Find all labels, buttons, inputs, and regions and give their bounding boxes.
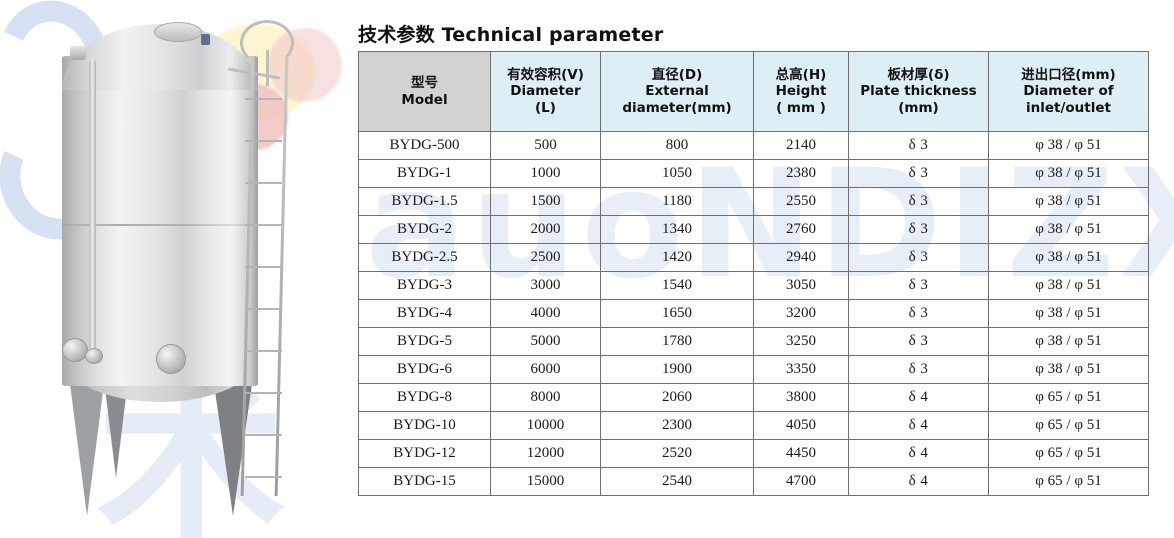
- cell-model: BYDG-5: [359, 328, 491, 356]
- cell-height: 4050: [754, 412, 849, 440]
- cell-diameter: 2060: [601, 384, 754, 412]
- table-row: BYDG-4400016503200δ 3φ 38 / φ 51: [359, 300, 1149, 328]
- ladder-rail-right: [275, 56, 289, 496]
- column-header-cn: 总高(H): [756, 67, 846, 83]
- cell-model: BYDG-6: [359, 356, 491, 384]
- column-header-diameter: 直径(D) External diameter(mm): [601, 52, 754, 132]
- column-header-en: External: [603, 83, 751, 99]
- cell-diameter: 800: [601, 132, 754, 160]
- column-header-en: Plate thickness: [851, 83, 986, 99]
- table-header-row: 型号 Model 有效容积(V) Diameter (L) 直径(D) Exte…: [359, 52, 1149, 132]
- cell-inlet-outlet: φ 65 / φ 51: [989, 412, 1149, 440]
- product-image: 术: [0, 0, 355, 538]
- cell-model: BYDG-1.5: [359, 188, 491, 216]
- cell-diameter: 2520: [601, 440, 754, 468]
- cell-volume: 12000: [491, 440, 601, 468]
- cell-inlet-outlet: φ 38 / φ 51: [989, 300, 1149, 328]
- cell-diameter: 2300: [601, 412, 754, 440]
- cell-inlet-outlet: φ 38 / φ 51: [989, 328, 1149, 356]
- ladder-rung: [245, 476, 282, 478]
- cell-height: 2380: [754, 160, 849, 188]
- cell-plate-thickness: δ 3: [849, 356, 989, 384]
- table-row: BYDG-3300015403050δ 3φ 38 / φ 51: [359, 272, 1149, 300]
- cell-plate-thickness: δ 3: [849, 272, 989, 300]
- cell-inlet-outlet: φ 38 / φ 51: [989, 356, 1149, 384]
- cell-volume: 15000: [491, 468, 601, 496]
- ladder-rung: [245, 140, 282, 142]
- cell-height: 2760: [754, 216, 849, 244]
- cell-plate-thickness: δ 3: [849, 216, 989, 244]
- column-header-cn: 直径(D): [603, 67, 751, 83]
- cell-model: BYDG-15: [359, 468, 491, 496]
- table-row: BYDG-1.5150011802550δ 3φ 38 / φ 51: [359, 188, 1149, 216]
- cell-plate-thickness: δ 3: [849, 132, 989, 160]
- column-header-unit: ( mm ): [756, 100, 846, 116]
- cell-volume: 3000: [491, 272, 601, 300]
- cell-diameter: 1420: [601, 244, 754, 272]
- cell-inlet-outlet: φ 65 / φ 51: [989, 440, 1149, 468]
- ladder-rung: [245, 266, 282, 268]
- cell-volume: 2000: [491, 216, 601, 244]
- table-row: BYDG-5500017803250δ 3φ 38 / φ 51: [359, 328, 1149, 356]
- table-row: BYDG-101000023004050δ 4φ 65 / φ 51: [359, 412, 1149, 440]
- cell-inlet-outlet: φ 38 / φ 51: [989, 272, 1149, 300]
- table-row: BYDG-151500025404700δ 4φ 65 / φ 51: [359, 468, 1149, 496]
- column-header-cn: 板材厚(δ): [851, 67, 986, 83]
- cell-volume: 1000: [491, 160, 601, 188]
- ladder-rung: [245, 98, 282, 100]
- column-header-unit: diameter(mm): [603, 100, 751, 116]
- cell-model: BYDG-8: [359, 384, 491, 412]
- cell-inlet-outlet: φ 38 / φ 51: [989, 160, 1149, 188]
- cell-volume: 1500: [491, 188, 601, 216]
- table-row: BYDG-2200013402760δ 3φ 38 / φ 51: [359, 216, 1149, 244]
- technical-parameter-table: 型号 Model 有效容积(V) Diameter (L) 直径(D) Exte…: [358, 51, 1149, 496]
- cell-model: BYDG-1: [359, 160, 491, 188]
- cell-diameter: 1650: [601, 300, 754, 328]
- ladder-rung: [245, 224, 282, 226]
- valve-nozzle-icon: [85, 348, 103, 364]
- ladder-rung: [245, 392, 282, 394]
- cell-model: BYDG-12: [359, 440, 491, 468]
- ladder-rail-left: [241, 56, 255, 496]
- table-row: BYDG-6600019003350δ 3φ 38 / φ 51: [359, 356, 1149, 384]
- cell-model: BYDG-2.5: [359, 244, 491, 272]
- cell-height: 2550: [754, 188, 849, 216]
- cell-model: BYDG-500: [359, 132, 491, 160]
- cell-volume: 6000: [491, 356, 601, 384]
- cell-plate-thickness: δ 3: [849, 328, 989, 356]
- cell-diameter: 1540: [601, 272, 754, 300]
- table-row: BYDG-121200025204450δ 4φ 65 / φ 51: [359, 440, 1149, 468]
- page-root: 术: [0, 0, 1174, 538]
- cell-diameter: 1340: [601, 216, 754, 244]
- cell-inlet-outlet: φ 65 / φ 51: [989, 384, 1149, 412]
- cell-height: 3350: [754, 356, 849, 384]
- storage-tank-illustration: [46, 18, 306, 528]
- cell-inlet-outlet: φ 38 / φ 51: [989, 216, 1149, 244]
- ladder-rung: [245, 350, 282, 352]
- cell-model: BYDG-4: [359, 300, 491, 328]
- cell-volume: 2500: [491, 244, 601, 272]
- ladder-hoop-arm: [266, 50, 269, 86]
- cell-plate-thickness: δ 4: [849, 412, 989, 440]
- cell-height: 3200: [754, 300, 849, 328]
- table-body: BYDG-5005008002140δ 3φ 38 / φ 51BYDG-110…: [359, 132, 1149, 496]
- sight-glass-tube: [89, 60, 96, 350]
- cell-inlet-outlet: φ 38 / φ 51: [989, 188, 1149, 216]
- column-header-volume: 有效容积(V) Diameter (L): [491, 52, 601, 132]
- column-header-unit: (L): [493, 100, 598, 116]
- cell-inlet-outlet: φ 65 / φ 51: [989, 468, 1149, 496]
- cell-plate-thickness: δ 4: [849, 440, 989, 468]
- cell-plate-thickness: δ 3: [849, 188, 989, 216]
- column-header-cn: 有效容积(V): [493, 67, 598, 83]
- outlet-nozzle-icon: [62, 338, 88, 362]
- cell-volume: 5000: [491, 328, 601, 356]
- table-row: BYDG-5005008002140δ 3φ 38 / φ 51: [359, 132, 1149, 160]
- top-fitting-icon: [70, 46, 86, 60]
- column-header-en: Diameter: [493, 83, 598, 99]
- cell-diameter: 1780: [601, 328, 754, 356]
- table-row: BYDG-8800020603800δ 4φ 65 / φ 51: [359, 384, 1149, 412]
- cell-plate-thickness: δ 3: [849, 244, 989, 272]
- cell-volume: 4000: [491, 300, 601, 328]
- cell-volume: 8000: [491, 384, 601, 412]
- cell-height: 4700: [754, 468, 849, 496]
- table-header: 型号 Model 有效容积(V) Diameter (L) 直径(D) Exte…: [359, 52, 1149, 132]
- ladder-rung: [245, 308, 282, 310]
- table-row: BYDG-2.5250014202940δ 3φ 38 / φ 51: [359, 244, 1149, 272]
- cell-diameter: 1180: [601, 188, 754, 216]
- cell-volume: 10000: [491, 412, 601, 440]
- cell-model: BYDG-10: [359, 412, 491, 440]
- page-title: 技术参数 Technical parameter: [358, 20, 663, 47]
- cell-plate-thickness: δ 4: [849, 468, 989, 496]
- cell-inlet-outlet: φ 38 / φ 51: [989, 244, 1149, 272]
- cell-diameter: 1050: [601, 160, 754, 188]
- column-header-plate-thickness: 板材厚(δ) Plate thickness (mm): [849, 52, 989, 132]
- cell-model: BYDG-2: [359, 216, 491, 244]
- cell-height: 4450: [754, 440, 849, 468]
- manhole-cover-icon: [154, 22, 202, 42]
- cell-height: 3800: [754, 384, 849, 412]
- cell-height: 2940: [754, 244, 849, 272]
- column-header-cn: 型号: [361, 75, 488, 91]
- cell-plate-thickness: δ 3: [849, 300, 989, 328]
- cell-inlet-outlet: φ 38 / φ 51: [989, 132, 1149, 160]
- cell-plate-thickness: δ 4: [849, 384, 989, 412]
- column-header-unit: (mm): [851, 100, 986, 116]
- cell-model: BYDG-3: [359, 272, 491, 300]
- ladder-rung: [245, 182, 282, 184]
- cell-height: 3050: [754, 272, 849, 300]
- cell-height: 2140: [754, 132, 849, 160]
- table-row: BYDG-1100010502380δ 3φ 38 / φ 51: [359, 160, 1149, 188]
- column-header-en: Height: [756, 83, 846, 99]
- tank-ladder: [242, 28, 286, 496]
- column-header-inlet-outlet: 进出口径(mm) Diameter of inlet/outlet: [989, 52, 1149, 132]
- cell-height: 3250: [754, 328, 849, 356]
- cell-plate-thickness: δ 3: [849, 160, 989, 188]
- column-header-height: 总高(H) Height ( mm ): [754, 52, 849, 132]
- specification-panel: 技术参数 Technical parameter auoNDIZX 型号 Mod…: [355, 0, 1174, 538]
- ladder-rung: [245, 434, 282, 436]
- inlet-nozzle-icon: [156, 344, 186, 374]
- column-header-en: Diameter of: [991, 83, 1146, 99]
- column-header-en: Model: [361, 92, 488, 108]
- column-header-model: 型号 Model: [359, 52, 491, 132]
- manhole-knob-icon: [201, 34, 210, 45]
- cell-volume: 500: [491, 132, 601, 160]
- cell-diameter: 1900: [601, 356, 754, 384]
- column-header-cn: 进出口径(mm): [991, 67, 1146, 83]
- tank-leg-left: [70, 384, 104, 516]
- cell-diameter: 2540: [601, 468, 754, 496]
- column-header-unit: inlet/outlet: [991, 100, 1146, 116]
